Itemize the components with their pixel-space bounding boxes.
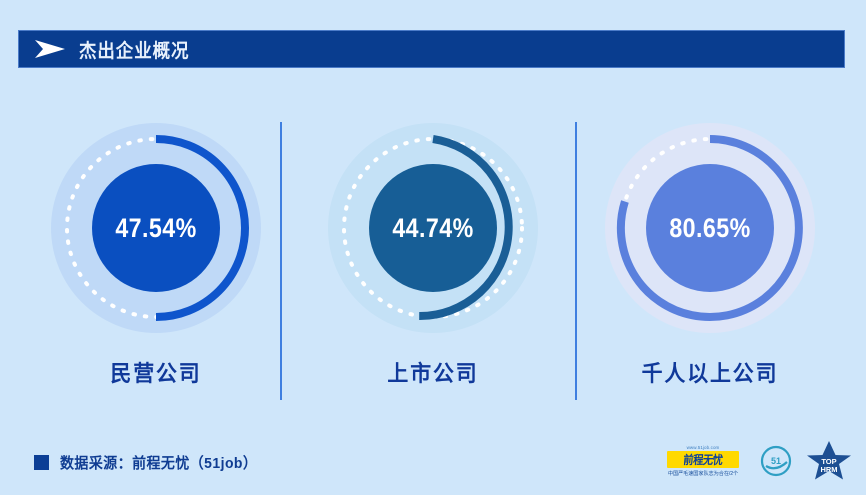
data-source-note: 数据采源：前程无忧（51job） bbox=[34, 452, 272, 473]
gauge-chart: 80.65% bbox=[602, 120, 818, 336]
gauge-value-label: 44.74% bbox=[340, 120, 526, 336]
square-marker-icon bbox=[34, 455, 49, 470]
section-header-bar: 杰出企业概况 bbox=[18, 30, 845, 68]
gauge-charts-row: 47.54% 民营公司 44.74% 上市公司 80.65% bbox=[18, 112, 848, 402]
data-source-text: 数据采源：前程无忧（51job） bbox=[60, 452, 257, 473]
circle-logo-icon: 51 bbox=[760, 445, 792, 477]
gauge-column-listed-company: 44.74% 上市公司 bbox=[295, 112, 572, 402]
gauge-column-large-company: 80.65% 千人以上公司 bbox=[571, 112, 848, 402]
gauge-category-label: 上市公司 bbox=[387, 356, 478, 388]
svg-text:HRM: HRM bbox=[820, 465, 837, 474]
51job-url-text: www.51job.com bbox=[687, 445, 720, 450]
51job-badge: 前程无忧 bbox=[667, 451, 739, 468]
play-arrow-icon bbox=[33, 38, 67, 60]
svg-text:51: 51 bbox=[771, 456, 781, 466]
page-title: 杰出企业概况 bbox=[79, 36, 189, 63]
51job-logo: www.51job.com 前程无忧 中国严毛速国家队志为合在/2个 bbox=[660, 445, 746, 477]
gauge-value-label: 47.54% bbox=[63, 120, 249, 336]
51job-badge-text: 前程无忧 bbox=[683, 451, 724, 468]
gauge-category-label: 民营公司 bbox=[111, 356, 202, 388]
footer-logos: www.51job.com 前程无忧 中国严毛速国家队志为合在/2个 51 TO… bbox=[660, 440, 852, 482]
gauge-column-private-company: 47.54% 民营公司 bbox=[18, 112, 295, 402]
gauge-chart: 44.74% bbox=[325, 120, 541, 336]
51job-sub-text: 中国严毛速国家队志为合在/2个 bbox=[668, 470, 738, 477]
gauge-chart: 47.54% bbox=[48, 120, 264, 336]
gauge-category-label: 千人以上公司 bbox=[641, 356, 778, 388]
top-hrm-star-logo-icon: TOP HRM bbox=[806, 440, 852, 482]
gauge-value-label: 80.65% bbox=[617, 120, 803, 336]
